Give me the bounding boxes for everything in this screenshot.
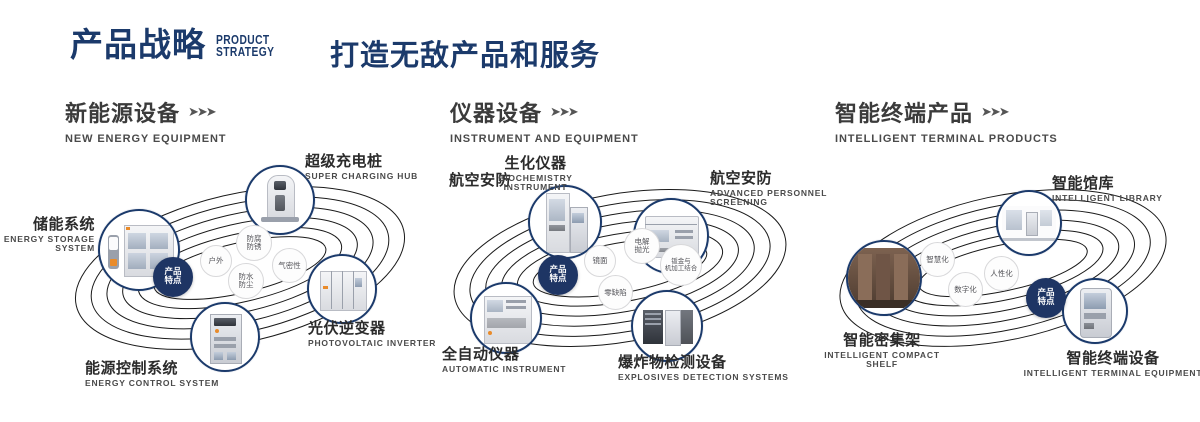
label-cn: 超级充电桩 bbox=[305, 153, 435, 170]
biochem-photo bbox=[530, 187, 600, 257]
bubble-feature-smart[interactable]: 智慧化 bbox=[920, 242, 955, 277]
node-automatic-instrument[interactable] bbox=[470, 282, 542, 354]
node-photovoltaic-inverter[interactable] bbox=[307, 254, 377, 324]
bubble-text: 防水防尘 bbox=[239, 273, 254, 289]
section-title-en: INTELLIGENT TERMINAL PRODUCTS bbox=[835, 133, 1058, 145]
section-title-cn: 仪器设备 ➤➤➤ bbox=[450, 96, 639, 128]
cluster-new-energy: 储能系统 ENERGY STORAGE SYSTEM 超级充电桩 SUPER C… bbox=[40, 150, 440, 400]
bubble-text: 零缺陷 bbox=[604, 289, 627, 297]
label-en: AUTOMATIC INSTRUMENT bbox=[442, 365, 612, 375]
label-automatic-instrument: 全自动仪器 AUTOMATIC INSTRUMENT bbox=[442, 346, 612, 374]
bubble-text: 气密性 bbox=[278, 262, 301, 270]
section-title-cn: 新能源设备 ➤➤➤ bbox=[65, 96, 226, 128]
page-title: 产品战略 bbox=[70, 28, 206, 61]
node-intelligent-terminal-equipment[interactable] bbox=[1062, 278, 1128, 344]
bubble-feature-anticorrosion[interactable]: 防腐防锈 bbox=[236, 225, 272, 261]
charging-hub-photo bbox=[247, 167, 313, 233]
poster-canvas: 产品战略 PRODUCT STRATEGY 打造无敌产品和服务 新能源设备 ➤➤… bbox=[0, 0, 1200, 422]
bubble-text: 产品 特点 bbox=[1037, 289, 1054, 307]
bubble-text: 人性化 bbox=[990, 270, 1013, 278]
cluster-instrument: 航空安防 生化仪器 BIOCHEMISTRY INSTRUMENT bbox=[428, 150, 828, 400]
label-en: ENERGY STORAGE SYSTEM bbox=[0, 235, 95, 254]
bubble-feature-waterproof[interactable]: 防水防尘 bbox=[228, 263, 264, 299]
bubble-feature-humanized[interactable]: 人性化 bbox=[984, 256, 1019, 291]
bubble-feature-digital[interactable]: 数字化 bbox=[948, 272, 983, 307]
label-intelligent-compact-shelf: 智能密集架 INTELLIGENT COMPACT SHELF bbox=[822, 332, 942, 370]
bubble-product-features[interactable]: 产品 特点 bbox=[1026, 278, 1066, 318]
label-cn: 全自动仪器 bbox=[442, 346, 612, 363]
label-energy-control-system: 能源控制系统 ENERGY CONTROL SYSTEM bbox=[85, 360, 285, 388]
label-cn: 爆炸物检测设备 bbox=[618, 354, 818, 371]
bubble-feature-mirror[interactable]: 镜面 bbox=[584, 245, 616, 277]
label-en: BIOCHEMISTRY INSTRUMENT bbox=[473, 174, 598, 193]
label-cn: 智能馆库 bbox=[1052, 175, 1200, 192]
brand-lockup: 产品战略 PRODUCT STRATEGY bbox=[70, 28, 287, 61]
bubble-product-features[interactable]: 产品 特点 bbox=[153, 257, 193, 297]
node-intelligent-compact-shelf[interactable] bbox=[846, 240, 922, 316]
bubble-text: 防腐防锈 bbox=[247, 235, 262, 251]
bubble-product-features[interactable]: 产品 特点 bbox=[538, 255, 578, 295]
chevron-right-icon: ➤➤➤ bbox=[188, 105, 215, 120]
section-title-en: NEW ENERGY EQUIPMENT bbox=[65, 133, 226, 145]
label-en: ENERGY CONTROL SYSTEM bbox=[85, 379, 285, 389]
chevron-right-icon: ➤➤➤ bbox=[550, 105, 577, 120]
bubble-text: 镜面 bbox=[593, 257, 608, 265]
bubble-feature-sheetmetal[interactable]: 钣金与机加工结合 bbox=[660, 244, 702, 286]
bubble-text: 产品 特点 bbox=[549, 266, 566, 284]
bubble-text: 钣金与机加工结合 bbox=[665, 258, 698, 272]
label-biochemistry-instrument: 生化仪器 BIOCHEMISTRY INSTRUMENT bbox=[473, 155, 598, 193]
label-cn: 储能系统 bbox=[0, 216, 95, 233]
section-title-instrument: 仪器设备 ➤➤➤ INSTRUMENT AND EQUIPMENT bbox=[450, 96, 639, 145]
label-en: INTELLIGENT LIBRARY bbox=[1052, 194, 1200, 204]
label-en: INTELLIGENT COMPACT SHELF bbox=[822, 351, 942, 370]
label-cn: 能源控制系统 bbox=[85, 360, 285, 377]
section-label: 新能源设备 bbox=[65, 96, 180, 128]
headline: 打造无敌产品和服务 bbox=[330, 32, 600, 74]
cluster-intelligent-terminal: 智能馆库 INTELLIGENT LIBRARY 智能密集架 INTELLIGE… bbox=[818, 150, 1200, 400]
label-en: EXPLOSIVES DETECTION SYSTEMS bbox=[618, 373, 818, 383]
chevron-right-icon: ➤➤➤ bbox=[981, 105, 1008, 120]
explosives-detection-photo bbox=[633, 292, 701, 360]
bubble-text: 产品 特点 bbox=[164, 268, 181, 286]
bubble-text: 户外 bbox=[209, 257, 224, 265]
label-cn: 智能密集架 bbox=[822, 332, 942, 349]
section-title-intelligent: 智能终端产品 ➤➤➤ INTELLIGENT TERMINAL PRODUCTS bbox=[835, 96, 1058, 145]
section-title-en: INSTRUMENT AND EQUIPMENT bbox=[450, 133, 639, 145]
label-cn: 生化仪器 bbox=[473, 155, 598, 172]
page-header: 产品战略 PRODUCT STRATEGY 打造无敌产品和服务 bbox=[0, 0, 1200, 86]
section-title-new-energy: 新能源设备 ➤➤➤ NEW ENERGY EQUIPMENT bbox=[65, 96, 226, 145]
section-label: 智能终端产品 bbox=[835, 96, 973, 128]
bubble-feature-outdoor[interactable]: 户外 bbox=[200, 245, 232, 277]
bubble-feature-airtight[interactable]: 气密性 bbox=[272, 248, 307, 283]
page-title-en: PRODUCT STRATEGY bbox=[216, 34, 274, 61]
node-explosives-detection-systems[interactable] bbox=[631, 290, 703, 362]
label-en: INTELLIGENT TERMINAL EQUIPMENT bbox=[1018, 369, 1200, 379]
section-label: 仪器设备 bbox=[450, 96, 542, 128]
label-energy-storage-system: 储能系统 ENERGY STORAGE SYSTEM bbox=[0, 216, 95, 254]
compact-shelf-photo bbox=[848, 242, 920, 314]
terminal-equipment-photo bbox=[1064, 280, 1126, 342]
library-photo bbox=[998, 192, 1060, 254]
section-title-cn: 智能终端产品 ➤➤➤ bbox=[835, 96, 1058, 128]
label-cn: 智能终端设备 bbox=[1018, 350, 1200, 367]
label-intelligent-terminal-equipment: 智能终端设备 INTELLIGENT TERMINAL EQUIPMENT bbox=[1018, 350, 1200, 378]
bubble-text: 电解抛光 bbox=[635, 238, 650, 254]
bubble-feature-zerodefect[interactable]: 零缺陷 bbox=[598, 275, 633, 310]
bubble-text: 智慧化 bbox=[926, 256, 949, 264]
automatic-instrument-photo bbox=[472, 284, 540, 352]
label-explosives-detection-systems: 爆炸物检测设备 EXPLOSIVES DETECTION SYSTEMS bbox=[618, 354, 818, 382]
bubble-feature-electropolish[interactable]: 电解抛光 bbox=[624, 228, 660, 264]
label-intelligent-library: 智能馆库 INTELLIGENT LIBRARY bbox=[1052, 175, 1200, 203]
bubble-text: 数字化 bbox=[954, 286, 977, 294]
pv-inverter-photo bbox=[309, 256, 375, 322]
